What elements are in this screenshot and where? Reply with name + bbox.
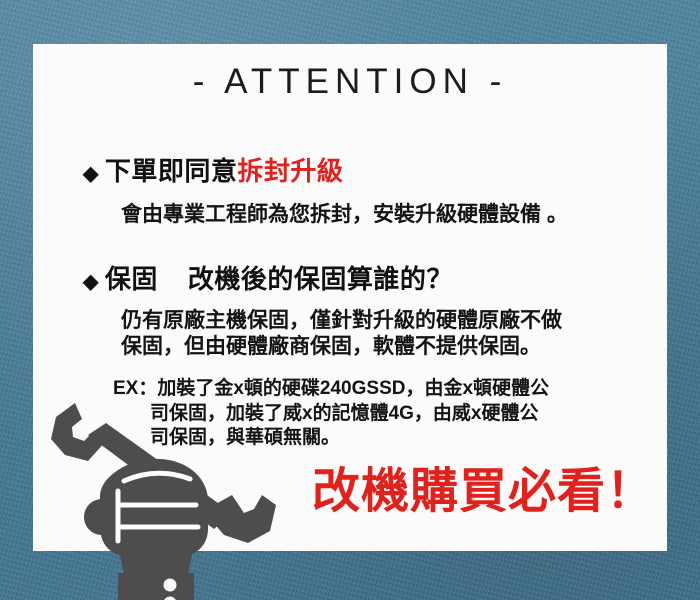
section-1-heading-highlight: 拆封升級	[237, 151, 343, 188]
section-1-heading: ◆ 下單即同意 拆封升級	[83, 151, 667, 188]
diamond-bullet-icon: ◆	[83, 164, 99, 184]
section-2-heading: ◆ 保固 改機後的保固算誰的？	[83, 259, 667, 296]
sleeve-shape	[118, 573, 194, 600]
attention-poster: - ATTENTION - ◆ 下單即同意 拆封升級 會由專業工程師為您拆封，安…	[0, 0, 700, 600]
section-2-body-line-1: 仍有原廠主機保固，僅針對升級的硬體原廠不做	[121, 308, 667, 334]
section-2-heading-lead: 保固	[105, 259, 158, 296]
section-1-heading-plain: 下單即同意	[105, 151, 238, 188]
section-unsealing-upgrade: ◆ 下單即同意 拆封升級 會由專業工程師為您拆封，安裝升級硬體設備 。	[33, 151, 667, 228]
diamond-bullet-icon: ◆	[83, 272, 99, 292]
section-2-heading-question: 改機後的保固算誰的？	[188, 259, 453, 296]
page-title: - ATTENTION -	[33, 62, 667, 102]
section-2-body-line-2: 保固，但由硬體廠商保固，軟體不提供保固。	[121, 334, 667, 360]
callout-text: 改機購買必看！	[312, 451, 655, 521]
section-warranty: ◆ 保固 改機後的保固算誰的？ 仍有原廠主機保固，僅針對升級的硬體原廠不做 保固…	[33, 259, 667, 359]
sleeve-button	[164, 579, 177, 592]
hand-holding-wrench-icon	[18, 395, 318, 600]
section-2-body: 仍有原廠主機保固，僅針對升級的硬體原廠不做 保固，但由硬體廠商保固，軟體不提供保…	[121, 308, 667, 359]
section-1-body: 會由專業工程師為您拆封，安裝升級硬體設備 。	[121, 202, 667, 228]
